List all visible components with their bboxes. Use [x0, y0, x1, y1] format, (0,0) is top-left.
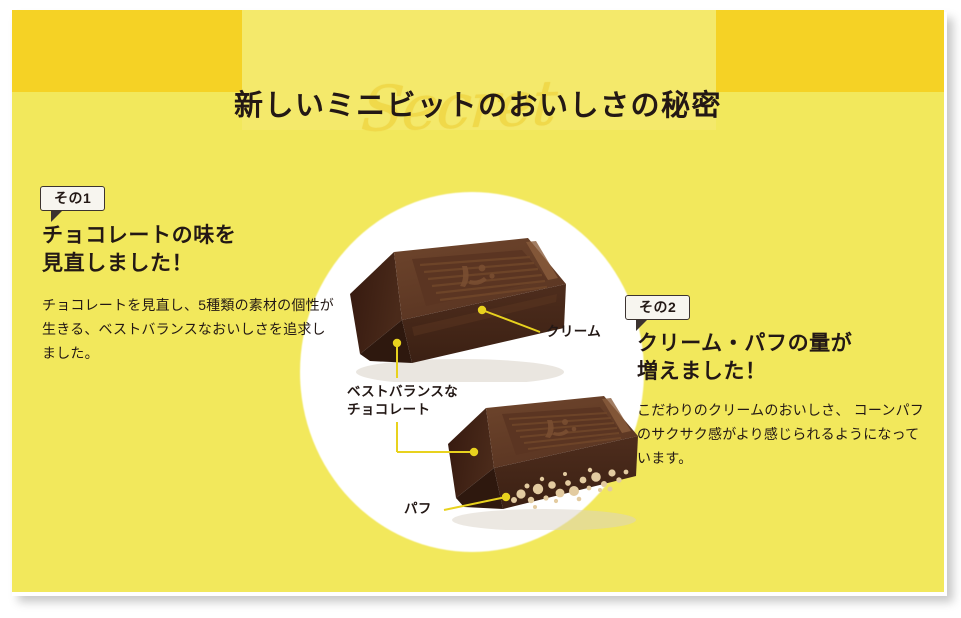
block2-body: こだわりのクリームのおいしさ、 コーンパフのサクサク感がより感じられるようになっ… — [637, 398, 927, 470]
badge-sono1: その1 — [40, 186, 105, 211]
callout-label-chocolate: ベストバランスな チョコレート — [347, 383, 458, 419]
page-title: 新しいミニビットのおいしさの秘密 — [12, 82, 944, 124]
block1-body: チョコレートを見直し、5種類の素材の個性が生きる、ベストバランスなおいしさを追求… — [42, 293, 338, 365]
callout-label-puff: パフ — [404, 500, 432, 518]
badge-sono2-label: その2 — [625, 295, 690, 320]
promo-page: Secret 新しいミニビットのおいしさの秘密 — [0, 0, 961, 618]
badge-sono1-tail — [51, 211, 62, 222]
badge-sono2: その2 — [625, 295, 690, 320]
badge-sono1-label: その1 — [40, 186, 105, 211]
chocolate-piece-plain — [342, 232, 572, 382]
block1-heading: チョコレートの味を 見直しました！ — [42, 222, 342, 277]
block2-heading: クリーム・パフの量が 増えました！ — [637, 330, 937, 385]
chocolate-piece-with-puff — [442, 390, 642, 530]
yellow-canvas: Secret 新しいミニビットのおいしさの秘密 — [12, 10, 944, 592]
callout-label-cream: クリーム — [546, 323, 601, 341]
